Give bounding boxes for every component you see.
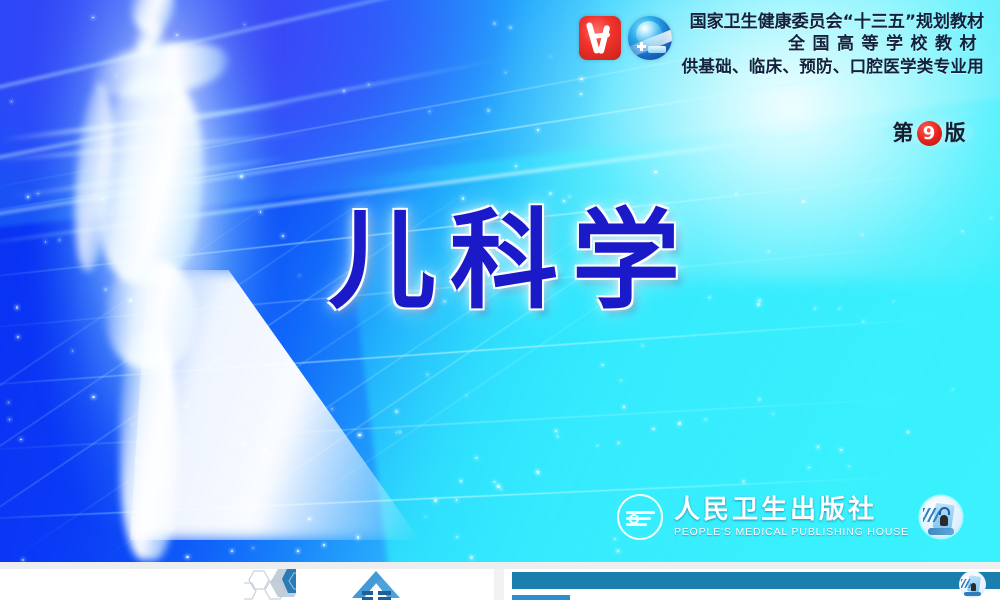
digital-resource-icon [920,496,962,538]
sparkle [617,550,619,552]
sparkle [427,374,429,376]
sparkle [614,538,616,540]
sparkle [331,408,333,410]
pmph-logo-icon [617,494,663,540]
sparkle [735,193,737,195]
sparkle [705,419,706,420]
sparkle [515,165,517,167]
sparkle [343,90,345,92]
sparkle [601,364,603,366]
sparkle [368,84,369,85]
next-slide-chip [512,595,570,600]
sparkle [509,26,512,29]
sparkle [761,146,762,147]
sparkle [497,485,500,488]
sparkle [848,466,850,468]
sparkle [952,389,953,390]
header-text: 国家卫生健康委员会“十三五”规划教材 全国高等学校教材 供基础、临床、预防、口腔… [682,12,984,77]
sparkle [597,445,598,446]
edition-prefix: 第 [893,123,914,144]
sparkle [654,171,657,174]
sparkle [466,395,467,396]
sparkle [399,431,401,433]
sparkle [536,471,538,473]
page-title: 儿科学 [0,196,1000,328]
sparkle [487,109,490,112]
sparkle [493,22,496,25]
edition-suffix: 版 [945,123,966,144]
sparkle [434,499,437,502]
sparkle [537,129,539,131]
next-slide-left[interactable] [0,569,494,600]
sparkle [742,480,745,483]
publisher-name-cn: 人民卫生出版社 [674,496,909,524]
sparkle [678,422,681,425]
sparkle [618,442,620,444]
sparkle [470,556,473,559]
sparkle [907,431,909,433]
sparkle [456,536,458,538]
sparkle [557,436,558,437]
sparkle [429,111,430,112]
sparkle [758,398,761,401]
sparkle [396,432,397,433]
publisher-block: 人民卫生出版社 PEOPLE'S MEDICAL PUBLISHING HOUS… [617,494,962,540]
header-block: 国家卫生健康委员会“十三五”规划教材 全国高等学校教材 供基础、临床、预防、口腔… [579,12,984,77]
sparkle [501,489,502,490]
sparkle [323,544,325,546]
sparkle [772,413,775,416]
sparkle [550,56,551,57]
header-logos [579,12,672,60]
sparkle [456,499,457,500]
sparkle [549,192,552,195]
sparkle [505,72,506,73]
nhc-red-emblem-icon [579,16,621,60]
publisher-name-en: PEOPLE'S MEDICAL PUBLISHING HOUSE [674,526,909,538]
edition-badge: 第 9 版 [884,116,974,150]
next-slide-right[interactable] [504,569,1000,600]
header-line-1: 国家卫生健康委员会“十三五”规划教材 [682,12,984,33]
sparkle [817,446,819,448]
sparkle [840,449,842,451]
sparkle [475,457,477,459]
sparkle [808,467,810,469]
sparkle [460,480,463,483]
sparkle [642,345,643,346]
digital-resource-icon [959,571,986,598]
sparkle [652,428,655,431]
sparkle [395,410,398,413]
sparkle [623,406,625,408]
slide-gutter [0,562,1000,569]
sparkle [555,430,557,432]
sparkle [358,434,361,437]
sparkle [425,516,426,517]
blue-triangle-logo-icon [296,569,416,600]
header-line-2: 全国高等学校教材 [682,34,984,55]
sparkle [493,481,496,484]
slide-canvas[interactable]: 国家卫生健康委员会“十三五”规划教材 全国高等学校教材 供基础、临床、预防、口腔… [0,0,1000,562]
next-slide-header-bar [512,572,1000,589]
sparkle [580,78,583,81]
globe-emblem-icon [628,16,672,60]
sparkle [620,380,621,381]
header-line-3: 供基础、临床、预防、口腔医学类专业用 [682,56,984,77]
sparkle [580,93,582,95]
edition-number: 9 [917,121,942,146]
next-slides-strip [0,569,1000,600]
publisher-text: 人民卫生出版社 PEOPLE'S MEDICAL PUBLISHING HOUS… [674,496,909,538]
sparkle [774,107,776,109]
